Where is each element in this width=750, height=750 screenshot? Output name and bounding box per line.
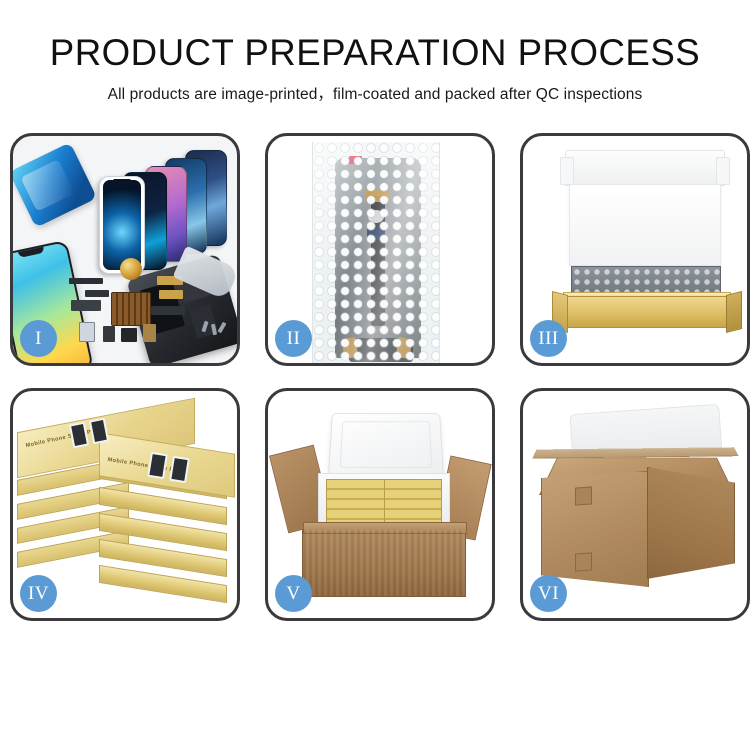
blue-flex-screen-graphic <box>13 142 97 228</box>
page-subtitle: All products are image-printed，film-coat… <box>0 82 750 104</box>
screw-2 <box>211 324 217 336</box>
step-badge-4: IV <box>20 575 57 612</box>
phone-screen-1-display <box>103 180 141 270</box>
plastic-sheen-overlay <box>313 142 439 363</box>
gold-box-front <box>561 296 733 328</box>
flex-cable-b <box>71 300 101 311</box>
process-panel-6[interactable]: VI <box>520 388 750 621</box>
carton-side-face <box>647 467 735 579</box>
spare-parts-cluster <box>73 278 198 363</box>
step-badge-1: I <box>20 320 57 357</box>
carton-front-face <box>541 471 649 587</box>
phone-screen-1 <box>99 176 145 274</box>
step-badge-2: II <box>275 320 312 357</box>
screw-1 <box>201 321 208 333</box>
packing-tape-strip <box>532 447 738 458</box>
earpiece-mesh <box>85 290 109 297</box>
carton-handle-tab-top <box>575 486 592 505</box>
page-header: PRODUCT PREPARATION PROCESS All products… <box>0 0 750 104</box>
sim-tray-part <box>79 322 95 342</box>
process-panel-2[interactable]: II <box>265 133 495 366</box>
step-badge-5: V <box>275 575 312 612</box>
process-panel-5[interactable]: V <box>265 388 495 621</box>
bubble-wrap-sleeve <box>312 142 440 363</box>
carton-handle-tab-bottom <box>575 552 592 571</box>
screws-graphic <box>201 321 227 341</box>
speaker-part <box>121 328 137 342</box>
process-panel-1[interactable]: I <box>10 133 240 366</box>
vibrator-part <box>143 324 156 342</box>
carton-body <box>302 529 466 597</box>
connector-part <box>103 326 115 342</box>
process-panel-3[interactable]: III <box>520 133 750 366</box>
styrofoam-lid <box>328 413 444 477</box>
box-lid-open <box>565 150 725 186</box>
phone-notch <box>114 179 131 183</box>
gold-flex-b <box>159 290 183 299</box>
speaker-coil-part <box>120 258 142 280</box>
antenna-flex <box>151 306 185 315</box>
step-badge-3: III <box>530 320 567 357</box>
carton-texture <box>303 530 465 596</box>
step-badge-6: VI <box>530 575 567 612</box>
page-title: PRODUCT PREPARATION PROCESS <box>4 34 747 73</box>
process-panel-4[interactable]: Mobile Phone Spare Parts Mobile Phone Sp… <box>10 388 240 621</box>
screw-3 <box>218 322 227 334</box>
chip-array-part <box>111 292 151 326</box>
screen-stack-graphic <box>101 148 231 268</box>
gold-boxes-inside <box>326 479 442 525</box>
product-preparation-page: PRODUCT PREPARATION PROCESS All products… <box>0 0 750 750</box>
foam-sheet <box>569 184 721 266</box>
process-panel-grid: I II <box>10 133 740 621</box>
flex-cable-a <box>69 278 103 284</box>
